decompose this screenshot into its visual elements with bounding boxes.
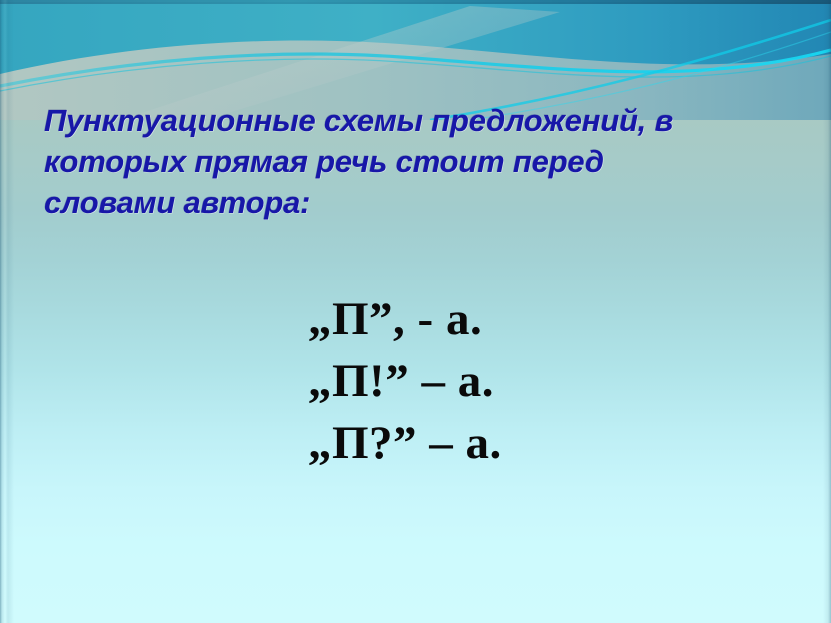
punctuation-scheme-item: „П?” – а. (308, 412, 502, 474)
top-edge-strip (0, 0, 831, 4)
slide-title-line-2: которых прямая речь стоит перед (44, 141, 734, 182)
slide-title: Пунктуационные схемы предложений, в кото… (44, 100, 734, 223)
slide-title-line-1: Пунктуационные схемы предложений, в (44, 100, 734, 141)
slide-title-line-3: словами автора: (44, 182, 734, 223)
punctuation-scheme-list: „П”, - а. „П!” – а. „П?” – а. (308, 288, 502, 474)
right-edge-seam (823, 0, 831, 623)
punctuation-scheme-item: „П!” – а. (308, 350, 502, 412)
presentation-slide: Пунктуационные схемы предложений, в кото… (0, 0, 831, 623)
punctuation-scheme-item: „П”, - а. (308, 288, 502, 350)
left-edge-seam (0, 0, 14, 623)
